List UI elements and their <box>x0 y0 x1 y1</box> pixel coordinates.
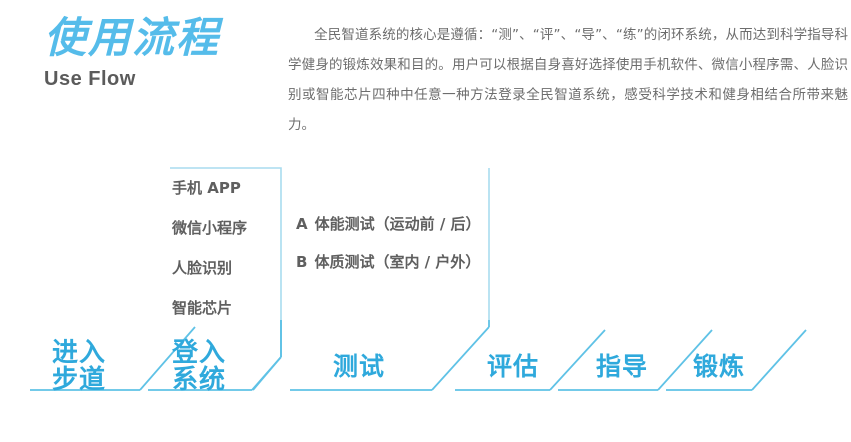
flow-step-4[interactable]: 评估 <box>474 353 552 380</box>
flow-step-5-line1: 指导 <box>583 353 661 380</box>
flow-step-1-line1: 进入 <box>40 340 118 367</box>
test-item-list: A体能测试（运动前 / 后） B体质测试（室内 / 户外） <box>296 205 496 281</box>
flow-step-2[interactable]: 登入 系统 <box>160 340 238 394</box>
test-item-tag: B <box>296 253 307 271</box>
test-item-tag: A <box>296 215 308 233</box>
flow-step-6-line1: 锻炼 <box>680 353 758 380</box>
flow-step-6[interactable]: 锻炼 <box>680 353 758 380</box>
flow-step-2-line1: 登入 <box>160 340 238 367</box>
test-item-label: 体能测试（运动前 / 后） <box>315 215 481 233</box>
test-item: A体能测试（运动前 / 后） <box>296 205 496 243</box>
flow-step-3[interactable]: 测试 <box>320 353 398 380</box>
flow-step-5[interactable]: 指导 <box>583 353 661 380</box>
flow-step-1[interactable]: 进入 步道 <box>40 340 118 394</box>
flow-step-3-line1: 测试 <box>320 353 398 380</box>
flow-step-1-line2: 步道 <box>40 367 118 394</box>
test-item: B体质测试（室内 / 户外） <box>296 243 496 281</box>
use-flow-infographic: 使用流程 Use Flow 全民智道系统的核心是遵循：“测”、“评”、“导”、“… <box>0 0 851 442</box>
login-method-item: 智能芯片 <box>172 288 272 328</box>
flow-step-4-line1: 评估 <box>474 353 552 380</box>
login-method-item: 手机 APP <box>172 168 272 208</box>
login-method-list: 手机 APP 微信小程序 人脸识别 智能芯片 <box>172 168 272 328</box>
login-method-item: 人脸识别 <box>172 248 272 288</box>
login-method-item: 微信小程序 <box>172 208 272 248</box>
flow-step-2-line2: 系统 <box>160 367 238 394</box>
test-item-label: 体质测试（室内 / 户外） <box>314 253 480 271</box>
